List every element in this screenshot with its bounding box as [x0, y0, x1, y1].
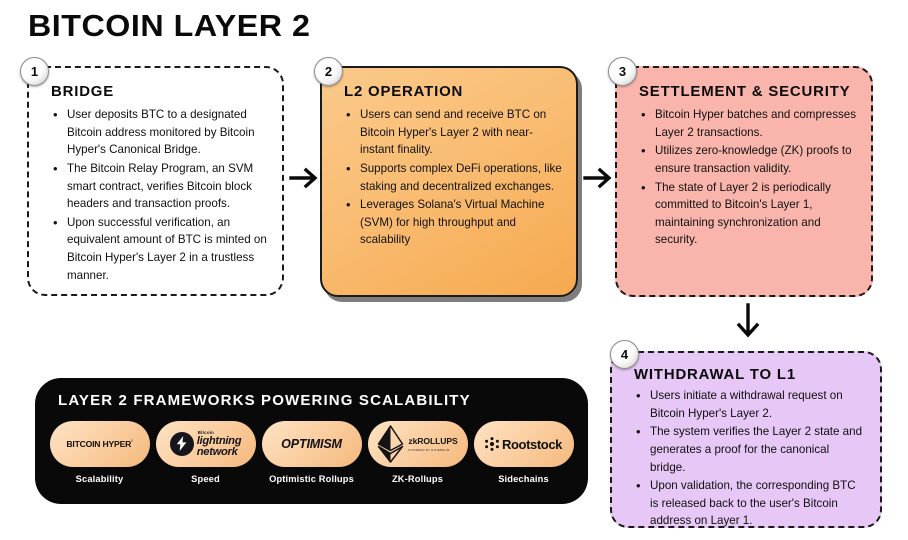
- list-item: Upon validation, the corresponding BTC i…: [634, 477, 866, 530]
- step-badge-3: 3: [608, 57, 637, 86]
- step-card-title: WITHDRAWAL TO L1: [634, 367, 873, 384]
- arrow-right-icon: [288, 161, 322, 195]
- lightning-network-logo: Bitcoin lightning network: [170, 431, 242, 457]
- step-card-settlement-security: SETTLEMENT & SECURITY Bitcoin Hyper batc…: [615, 66, 873, 297]
- frameworks-logo-row: BITCOIN HYPER² Scalability Bit: [49, 421, 574, 484]
- framework-caption: Sidechains: [498, 474, 549, 484]
- rootstock-mark-icon: [485, 437, 499, 451]
- arrow-right-icon: [582, 161, 616, 195]
- lightning-network-word-1: lightning: [197, 436, 242, 447]
- framework-caption: ZK-Rollups: [392, 474, 443, 484]
- step-bullet-list: Users can send and receive BTC on Bitcoi…: [344, 106, 562, 249]
- list-item: The state of Layer 2 is periodically com…: [639, 179, 857, 249]
- rootstock-logo: Rootstock: [485, 437, 562, 452]
- bitcoin-hyper-logo-sup: ²: [131, 439, 132, 445]
- logo-pill: BITCOIN HYPER²: [50, 421, 150, 467]
- rootstock-wordmark: Rootstock: [502, 437, 562, 452]
- logo-pill: Rootstock: [474, 421, 574, 467]
- framework-item-scalability[interactable]: BITCOIN HYPER² Scalability: [49, 421, 150, 484]
- optimism-logo: OPTIMISM: [281, 437, 342, 451]
- bitcoin-hyper-logo-text: BITCOIN HYPER: [66, 439, 131, 449]
- step-card-title: L2 OPERATION: [344, 84, 569, 101]
- ethereum-diamond-icon: [377, 425, 404, 463]
- step-bullet-list: Bitcoin Hyper batches and compresses Lay…: [639, 106, 857, 249]
- lightning-bolt-icon: [170, 432, 194, 456]
- step-bullet-list: Users initiate a withdrawal request on B…: [634, 387, 866, 530]
- list-item: The system verifies the Layer 2 state an…: [634, 423, 866, 476]
- step-badge-2: 2: [314, 57, 343, 86]
- list-item: Upon successful verification, an equival…: [51, 214, 268, 284]
- bitcoin-hyper-logo: BITCOIN HYPER²: [66, 439, 132, 449]
- list-item: User deposits BTC to a designated Bitcoi…: [51, 106, 268, 159]
- list-item: Utilizes zero-knowledge (ZK) proofs to e…: [639, 142, 857, 177]
- page-title: BITCOIN LAYER 2: [28, 8, 310, 44]
- framework-caption: Speed: [191, 474, 220, 484]
- diagram-canvas: BITCOIN LAYER 2 BRIDGE User deposits BTC…: [0, 0, 908, 540]
- list-item: Supports complex DeFi operations, like s…: [344, 160, 562, 195]
- step-badge-4: 4: [610, 340, 639, 369]
- framework-item-zk-rollups[interactable]: zkROLLUPS POWERED BY ETHEREUM ZK-Rollups: [367, 421, 468, 484]
- list-item: Users can send and receive BTC on Bitcoi…: [344, 106, 562, 159]
- zk-rollups-logo: zkROLLUPS POWERED BY ETHEREUM: [377, 425, 457, 463]
- step-card-withdrawal-to-l1: WITHDRAWAL TO L1 Users initiate a withdr…: [610, 351, 882, 528]
- frameworks-panel-title: LAYER 2 FRAMEWORKS POWERING SCALABILITY: [58, 393, 471, 409]
- list-item: Bitcoin Hyper batches and compresses Lay…: [639, 106, 857, 141]
- step-badge-1: 1: [20, 57, 49, 86]
- lightning-network-word-2: network: [197, 447, 238, 458]
- step-card-title: BRIDGE: [51, 84, 275, 101]
- frameworks-panel: LAYER 2 FRAMEWORKS POWERING SCALABILITY …: [35, 378, 588, 504]
- logo-pill: Bitcoin lightning network: [156, 421, 256, 467]
- lightning-network-wordmark: Bitcoin lightning network: [197, 431, 242, 457]
- zk-rollups-wordmark: zkROLLUPS POWERED BY ETHEREUM: [408, 436, 457, 452]
- framework-item-speed[interactable]: Bitcoin lightning network Speed: [155, 421, 256, 484]
- framework-caption: Optimistic Rollups: [269, 474, 354, 484]
- zk-rollups-word: zkROLLUPS: [408, 436, 457, 446]
- step-card-bridge: BRIDGE User deposits BTC to a designated…: [27, 66, 284, 296]
- logo-pill: zkROLLUPS POWERED BY ETHEREUM: [368, 421, 468, 467]
- step-card-title: SETTLEMENT & SECURITY: [639, 84, 864, 101]
- step-bullet-list: User deposits BTC to a designated Bitcoi…: [51, 106, 268, 284]
- framework-item-optimistic-rollups[interactable]: OPTIMISM Optimistic Rollups: [261, 421, 362, 484]
- list-item: Leverages Solana's Virtual Machine (SVM)…: [344, 196, 562, 249]
- step-card-l2-operation: L2 OPERATION Users can send and receive …: [320, 66, 578, 297]
- framework-caption: Scalability: [76, 474, 124, 484]
- list-item: Users initiate a withdrawal request on B…: [634, 387, 866, 422]
- zk-rollups-subtext: POWERED BY ETHEREUM: [408, 448, 449, 452]
- framework-item-sidechains[interactable]: Rootstock Sidechains: [473, 421, 574, 484]
- list-item: The Bitcoin Relay Program, an SVM smart …: [51, 160, 268, 213]
- arrow-down-icon: [731, 303, 765, 343]
- logo-pill: OPTIMISM: [262, 421, 362, 467]
